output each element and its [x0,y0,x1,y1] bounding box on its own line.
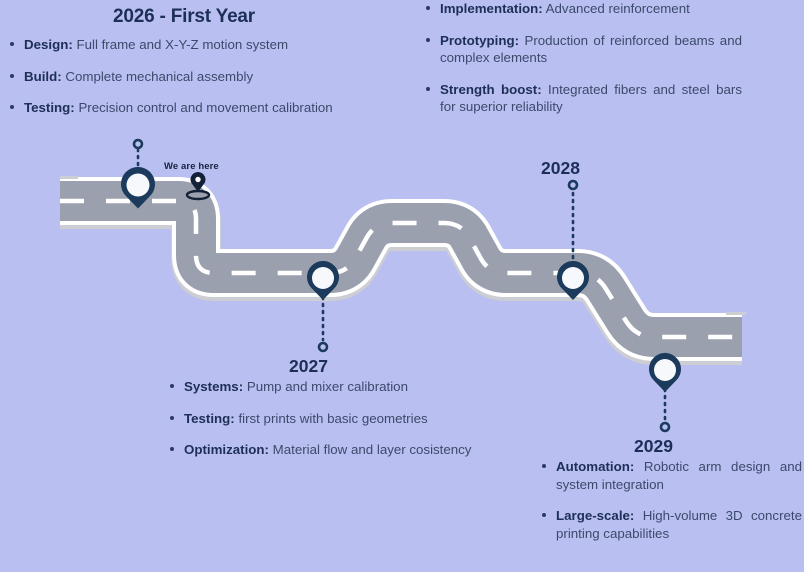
bullet-dot-icon [542,464,546,468]
list-item-text: Full frame and X-Y-Z motion system [76,37,288,52]
year-label-2027: 2027 [289,356,328,377]
milestone-list-2029: Automation: Robotic arm design and syste… [540,458,802,542]
list-item-text: Advanced reinforcement [546,1,690,16]
list-item-text: Precision control and movement calibrati… [78,100,332,115]
list-item-term: Testing: [184,411,235,426]
milestone-block-2028: Implementation: Advanced reinforcement P… [424,0,742,116]
list-item: Testing: first prints with basic geometr… [168,410,482,428]
milestone-pin-2028[interactable] [557,261,589,300]
list-item-term: Strength boost: [440,82,542,97]
milestone-pin-2026[interactable] [121,167,155,209]
bullet-dot-icon [10,105,14,109]
bullet-dot-icon [170,447,174,451]
milestone-pin-2027[interactable] [307,261,339,300]
milestone-block-2027: Systems: Pump and mixer calibration Test… [168,378,482,459]
connector-2028 [569,181,577,258]
milestone-list-2028: Implementation: Advanced reinforcement P… [424,0,742,116]
bullet-dot-icon [426,6,430,10]
milestone-heading-2026: 2026 - First Year [8,6,360,28]
list-item-term: Testing: [24,100,75,115]
list-item-term: Prototyping: [440,33,519,48]
list-item: Build: Complete mechanical assembly [8,68,360,86]
list-item-term: Large-scale: [556,508,634,523]
bullet-dot-icon [10,74,14,78]
list-item-text: Pump and mixer calibration [247,379,408,394]
we-are-here-icon[interactable] [187,172,209,199]
bullet-dot-icon [10,42,14,46]
list-item: Systems: Pump and mixer calibration [168,378,482,396]
year-label-2029: 2029 [634,436,673,457]
list-item-term: Systems: [184,379,243,394]
list-item-term: Automation: [556,459,634,474]
milestone-list-2026: Design: Full frame and X-Y-Z motion syst… [8,36,360,117]
year-label-2028: 2028 [541,158,580,179]
list-item-term: Design: [24,37,73,52]
list-item: Automation: Robotic arm design and syste… [540,458,802,493]
bullet-dot-icon [170,416,174,420]
list-item: Large-scale: High-volume 3D concrete pri… [540,507,802,542]
list-item: Optimization: Material flow and layer co… [168,441,482,459]
list-item-text: Material flow and layer cosistency [273,442,472,457]
list-item: Implementation: Advanced reinforcement [424,0,742,18]
milestone-pin-2029[interactable] [649,353,681,392]
milestone-block-2029: Automation: Robotic arm design and syste… [540,458,802,542]
bullet-dot-icon [170,384,174,388]
milestone-list-2027: Systems: Pump and mixer calibration Test… [168,378,482,459]
we-are-here-label: We are here [164,161,219,172]
bullet-dot-icon [426,87,430,91]
list-item-text: first prints with basic geometries [238,411,427,426]
list-item-text: Complete mechanical assembly [65,69,253,84]
list-item: Prototyping: Production of reinforced be… [424,32,742,67]
list-item: Testing: Precision control and movement … [8,99,360,117]
list-item-term: Build: [24,69,62,84]
roadmap-infographic: We are here 2026 - First Year Design: Fu… [0,0,804,572]
list-item: Strength boost: Integrated fibers and st… [424,81,742,116]
list-item-term: Optimization: [184,442,269,457]
list-item-term: Implementation: [440,1,543,16]
list-item: Design: Full frame and X-Y-Z motion syst… [8,36,360,54]
bullet-dot-icon [426,38,430,42]
bullet-dot-icon [542,513,546,517]
milestone-block-2026: 2026 - First Year Design: Full frame and… [8,6,360,117]
